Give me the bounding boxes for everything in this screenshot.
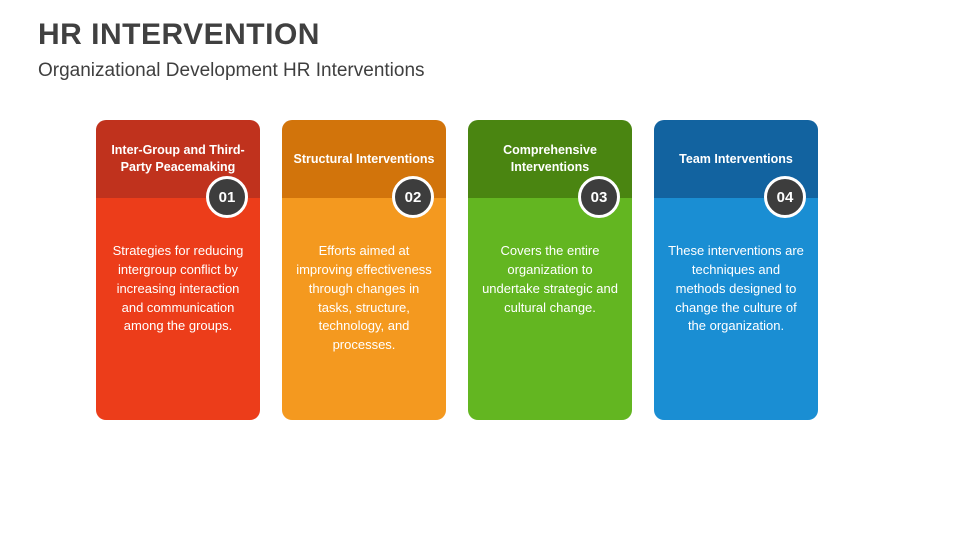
page-title: HR INTERVENTION <box>38 18 320 52</box>
card-4-heading: Team Interventions <box>679 151 793 168</box>
card-4-body: These interventions are techniques and m… <box>654 198 818 420</box>
card-1-description: Strategies for reducing intergroup confl… <box>108 242 248 410</box>
card-1[interactable]: Inter-Group and Third-Party Peacemaking … <box>96 120 260 420</box>
card-2-number-badge: 02 <box>392 176 434 218</box>
card-2-body: Efforts aimed at improving effectiveness… <box>282 198 446 420</box>
card-1-heading: Inter-Group and Third-Party Peacemaking <box>106 142 250 176</box>
card-2-description: Efforts aimed at improving effectiveness… <box>294 242 434 410</box>
card-3-description: Covers the entire organization to undert… <box>480 242 620 410</box>
card-2[interactable]: Structural Interventions 02 Efforts aime… <box>282 120 446 420</box>
page-subtitle: Organizational Development HR Interventi… <box>38 60 425 82</box>
card-3-body: Covers the entire organization to undert… <box>468 198 632 420</box>
slide: HR INTERVENTION Organizational Developme… <box>0 0 960 540</box>
card-4-description: These interventions are techniques and m… <box>666 242 806 410</box>
cards-container: Inter-Group and Third-Party Peacemaking … <box>96 120 868 420</box>
card-2-heading: Structural Interventions <box>294 151 435 168</box>
card-1-number-badge: 01 <box>206 176 248 218</box>
card-3[interactable]: Comprehensive Interventions 03 Covers th… <box>468 120 632 420</box>
card-4[interactable]: Team Interventions 04 These intervention… <box>654 120 818 420</box>
card-3-number-badge: 03 <box>578 176 620 218</box>
card-1-body: Strategies for reducing intergroup confl… <box>96 198 260 420</box>
card-4-number-badge: 04 <box>764 176 806 218</box>
card-3-heading: Comprehensive Interventions <box>478 142 622 176</box>
